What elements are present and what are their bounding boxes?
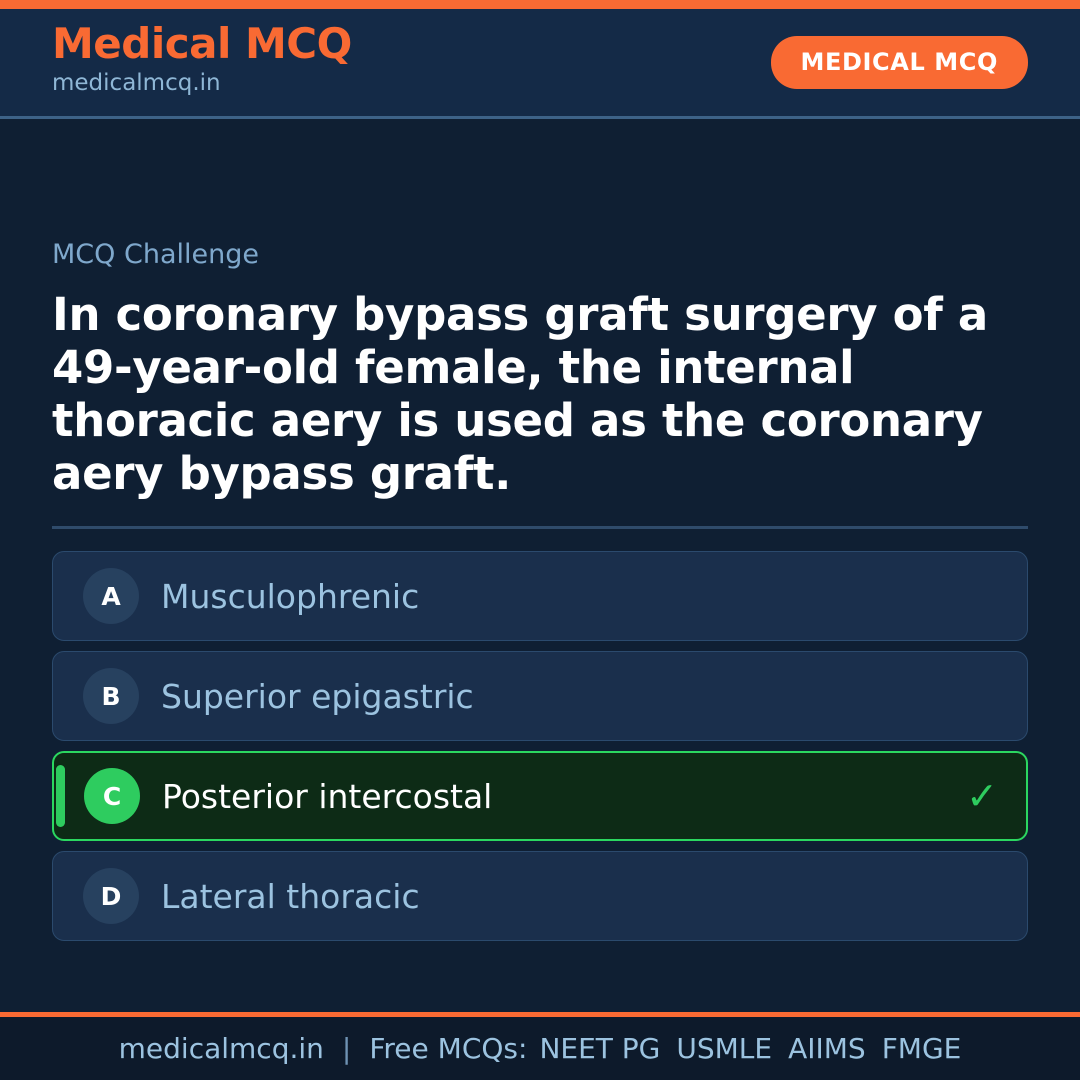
option-label: Musculophrenic	[161, 580, 419, 613]
question-divider	[52, 526, 1028, 529]
option-letter-badge: C	[84, 768, 140, 824]
page-footer: medicalmcq.in | Free MCQs: NEET PG USMLE…	[0, 1012, 1080, 1080]
main-content: MCQ Challenge In coronary bypass graft s…	[0, 119, 1080, 1012]
question-text: In coronary bypass graft surgery of a 49…	[52, 288, 1012, 500]
footer-exam-aiims[interactable]: AIIMS	[788, 1032, 866, 1065]
option-label: Posterior intercostal	[162, 780, 492, 813]
footer-exam-fmge[interactable]: FMGE	[882, 1032, 962, 1065]
option-row-c[interactable]: C Posterior intercostal ✓	[52, 751, 1028, 841]
footer-label: Free MCQs:	[369, 1032, 527, 1065]
options-list: A Musculophrenic B Superior epigastric C…	[52, 551, 1028, 941]
option-label: Superior epigastric	[161, 680, 474, 713]
brand-block: Medical MCQ medicalmcq.in	[52, 22, 352, 98]
eyebrow-label: MCQ Challenge	[52, 241, 1028, 268]
footer-site-link[interactable]: medicalmcq.in	[119, 1032, 324, 1065]
footer-exam-usmle[interactable]: USMLE	[676, 1032, 772, 1065]
footer-exam-neetpg[interactable]: NEET PG	[539, 1032, 660, 1065]
brand-title: Medical MCQ	[52, 22, 352, 67]
check-icon: ✓	[966, 777, 998, 815]
correct-accent-bar	[56, 765, 65, 827]
option-row-b[interactable]: B Superior epigastric	[52, 651, 1028, 741]
footer-content: medicalmcq.in | Free MCQs: NEET PG USMLE…	[119, 1032, 962, 1065]
mcq-card: Medical MCQ medicalmcq.in MEDICAL MCQ MC…	[0, 0, 1080, 1080]
option-label: Lateral thoracic	[161, 880, 420, 913]
option-letter-badge: A	[83, 568, 139, 624]
brand-subtitle: medicalmcq.in	[52, 69, 352, 99]
option-row-a[interactable]: A Musculophrenic	[52, 551, 1028, 641]
option-row-d[interactable]: D Lateral thoracic	[52, 851, 1028, 941]
top-accent-strip	[0, 0, 1080, 9]
header-badge: MEDICAL MCQ	[771, 36, 1028, 89]
page-header: Medical MCQ medicalmcq.in MEDICAL MCQ	[0, 9, 1080, 119]
footer-separator: |	[342, 1032, 351, 1065]
option-letter-badge: D	[83, 868, 139, 924]
option-letter-badge: B	[83, 668, 139, 724]
